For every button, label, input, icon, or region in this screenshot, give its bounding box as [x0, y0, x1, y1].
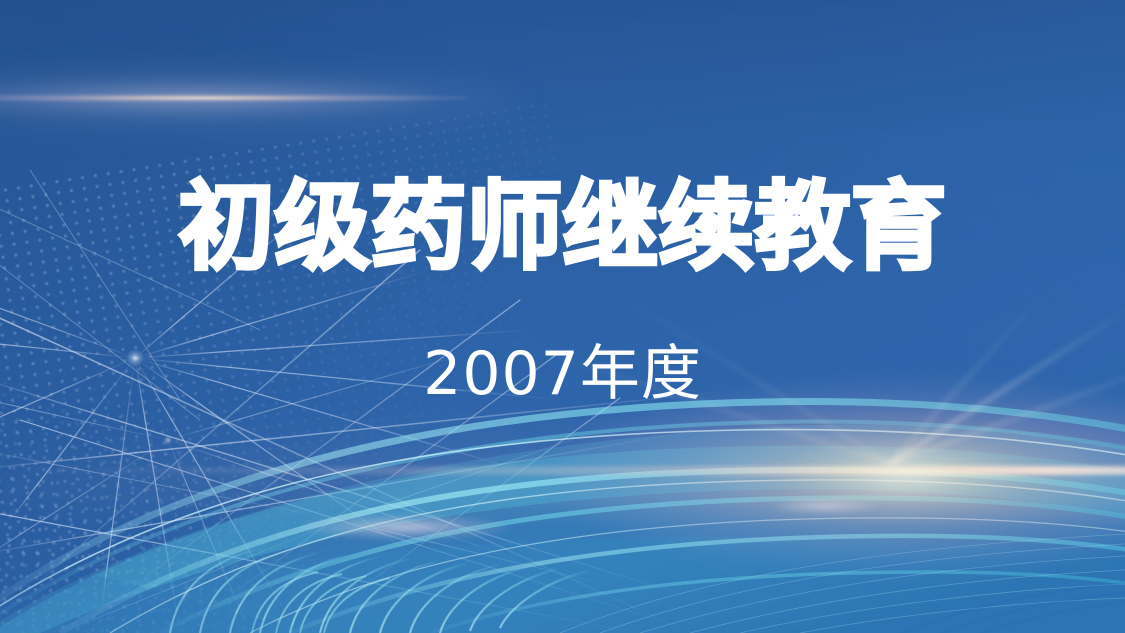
dot-grid-texture-secondary [0, 314, 431, 633]
presentation-title-slide: 初级药师继续教育 2007年度 [0, 0, 1125, 633]
lens-flare-small-right [770, 498, 880, 514]
